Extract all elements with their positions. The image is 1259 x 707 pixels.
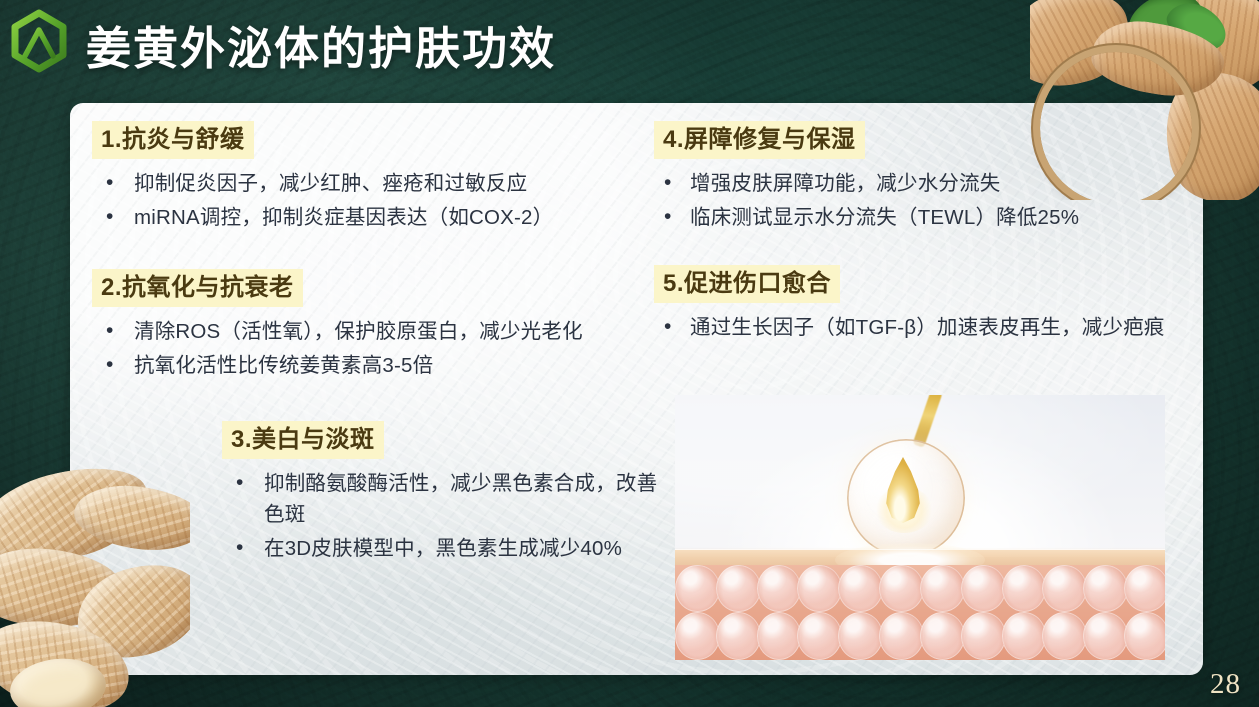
list-item: 抑制促炎因子，减少红肿、痤疮和过敏反应: [92, 168, 652, 199]
list-item: 通过生长因子（如TGF-β）加速表皮再生，减少疤痕: [654, 312, 1174, 343]
cell-row: [675, 612, 1165, 660]
section-4-heading: 4.屏障修复与保湿: [654, 121, 865, 159]
hexagon-a-logo-icon: [8, 8, 70, 84]
page-title: 姜黄外泌体的护肤功效: [86, 18, 556, 80]
list-item: 临床测试显示水分流失（TEWL）降低25%: [654, 202, 1184, 233]
section-1-bullets: 抑制促炎因子，减少红肿、痤疮和过敏反应 miRNA调控，抑制炎症基因表达（如CO…: [92, 168, 652, 233]
ginger-powder-photo: [1030, 0, 1259, 200]
list-item: 清除ROS（活性氧），保护胶原蛋白，减少光老化: [92, 316, 662, 347]
section-5-heading: 5.促进伤口愈合: [654, 265, 840, 303]
list-item: 抑制酪氨酸酶活性，减少黑色素合成，改善色斑: [222, 468, 672, 530]
section-antioxidant-antiaging: 2.抗氧化与抗衰老 清除ROS（活性氧），保护胶原蛋白，减少光老化 抗氧化活性比…: [92, 269, 662, 384]
section-3-bullets: 抑制酪氨酸酶活性，减少黑色素合成，改善色斑 在3D皮肤模型中，黑色素生成减少40…: [222, 468, 672, 564]
list-item: 抗氧化活性比传统姜黄素高3-5倍: [92, 350, 662, 381]
slide-canvas: 姜黄外泌体的护肤功效 1.抗炎与舒缓 抑制促炎因子，减少红肿、痤疮和过敏反应 m…: [0, 0, 1259, 707]
list-item: miRNA调控，抑制炎症基因表达（如COX-2）: [92, 202, 652, 233]
section-wound-healing: 5.促进伤口愈合 通过生长因子（如TGF-β）加速表皮再生，减少疤痕: [654, 265, 1174, 346]
list-item: 在3D皮肤模型中，黑色素生成减少40%: [222, 533, 672, 564]
page-number: 28: [1210, 668, 1241, 701]
section-whitening-spot-fading: 3.美白与淡斑 抑制酪氨酸酶活性，减少黑色素合成，改善色斑 在3D皮肤模型中，黑…: [222, 421, 672, 567]
skin-cell-rows: [675, 565, 1165, 660]
serum-skin-illustration: [675, 395, 1165, 660]
ginger-root-photo: [0, 457, 190, 707]
section-2-bullets: 清除ROS（活性氧），保护胶原蛋白，减少光老化 抗氧化活性比传统姜黄素高3-5倍: [92, 316, 662, 381]
ginger-powder-bowl: [1040, 52, 1192, 200]
cell-row: [675, 565, 1165, 613]
section-2-heading: 2.抗氧化与抗衰老: [92, 269, 303, 307]
section-anti-inflammatory: 1.抗炎与舒缓 抑制促炎因子，减少红肿、痤疮和过敏反应 miRNA调控，抑制炎症…: [92, 121, 652, 236]
section-1-heading: 1.抗炎与舒缓: [92, 121, 254, 159]
section-3-heading: 3.美白与淡斑: [222, 421, 384, 459]
section-5-bullets: 通过生长因子（如TGF-β）加速表皮再生，减少疤痕: [654, 312, 1174, 343]
